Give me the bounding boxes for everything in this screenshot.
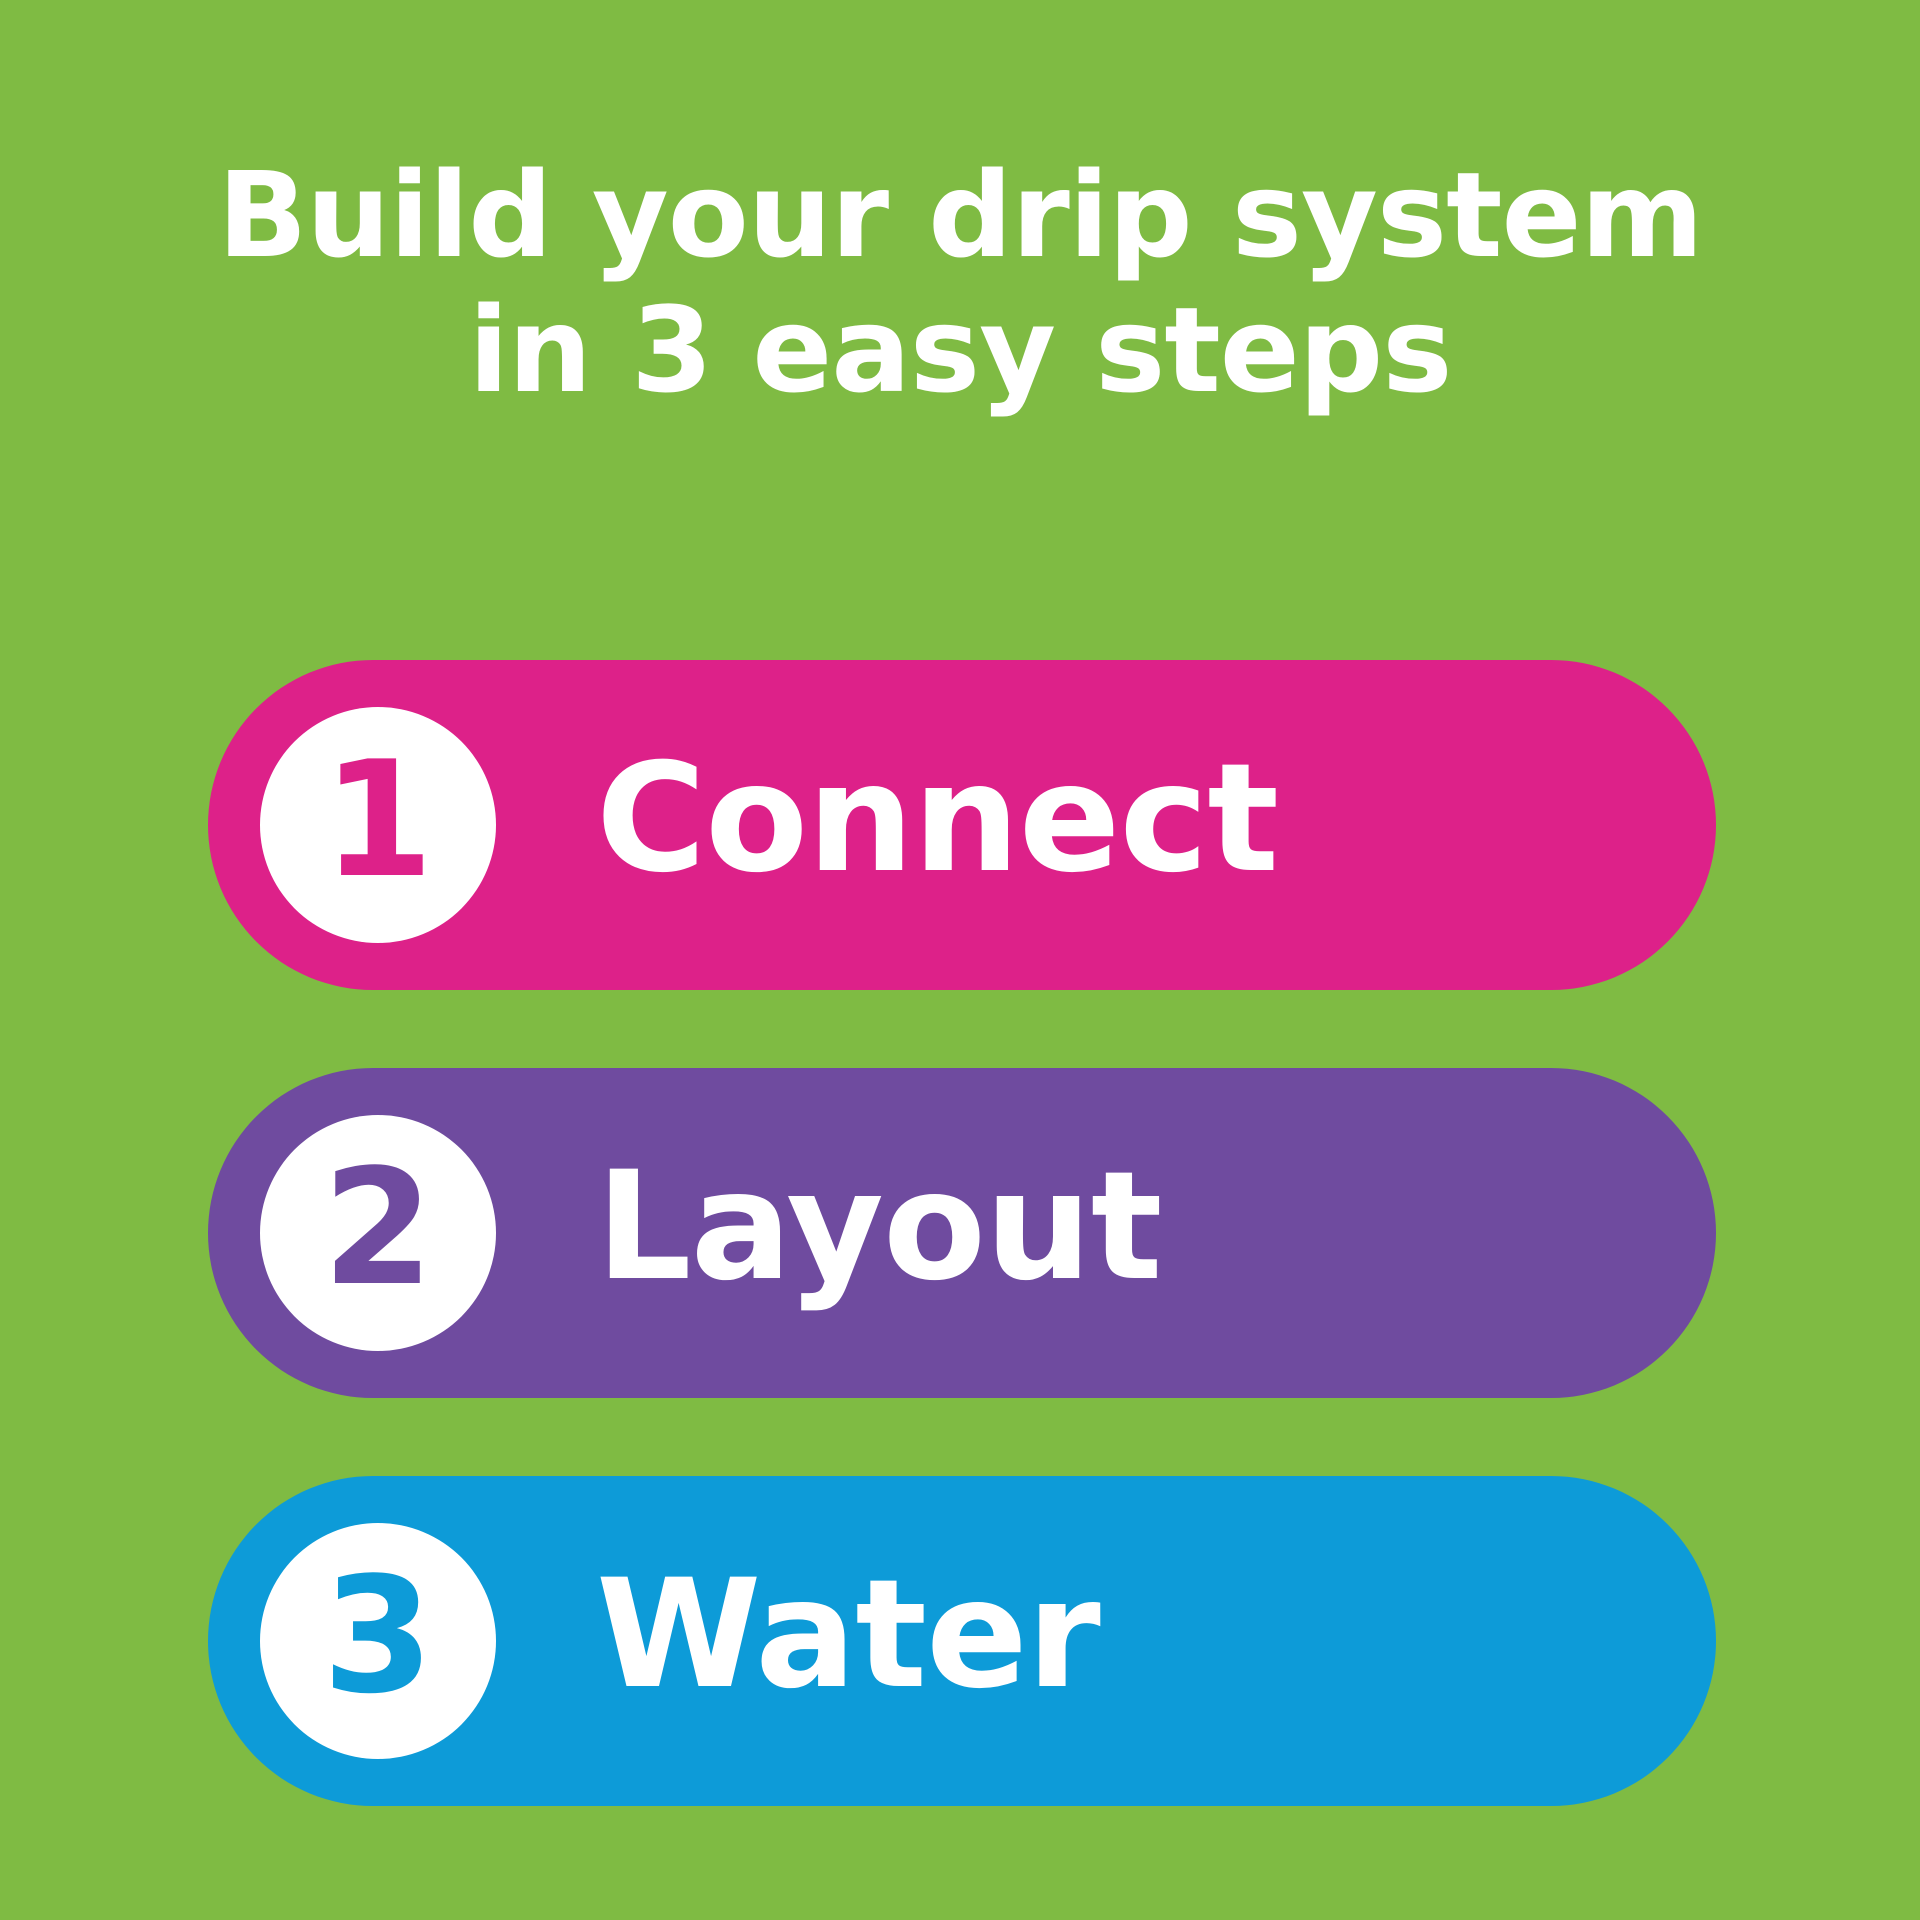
page-title-line-2: in 3 easy steps xyxy=(0,283,1920,418)
step-label-connect: Connect xyxy=(596,744,1278,906)
step-item-connect[interactable]: 1 Connect xyxy=(208,660,1716,990)
promo-poster: Build your drip system in 3 easy steps 1… xyxy=(0,0,1920,1920)
step-label-layout: Layout xyxy=(596,1152,1162,1314)
step-number-badge-3: 3 xyxy=(260,1523,496,1759)
step-item-water[interactable]: 3 Water xyxy=(208,1476,1716,1806)
step-number-badge-2: 2 xyxy=(260,1115,496,1351)
step-number-badge-1: 1 xyxy=(260,707,496,943)
steps-list: 1 Connect 2 Layout 3 Water xyxy=(208,660,1716,1806)
page-title: Build your drip system in 3 easy steps xyxy=(0,148,1920,417)
step-label-water: Water xyxy=(596,1560,1100,1722)
step-item-layout[interactable]: 2 Layout xyxy=(208,1068,1716,1398)
page-title-line-1: Build your drip system xyxy=(0,148,1920,283)
